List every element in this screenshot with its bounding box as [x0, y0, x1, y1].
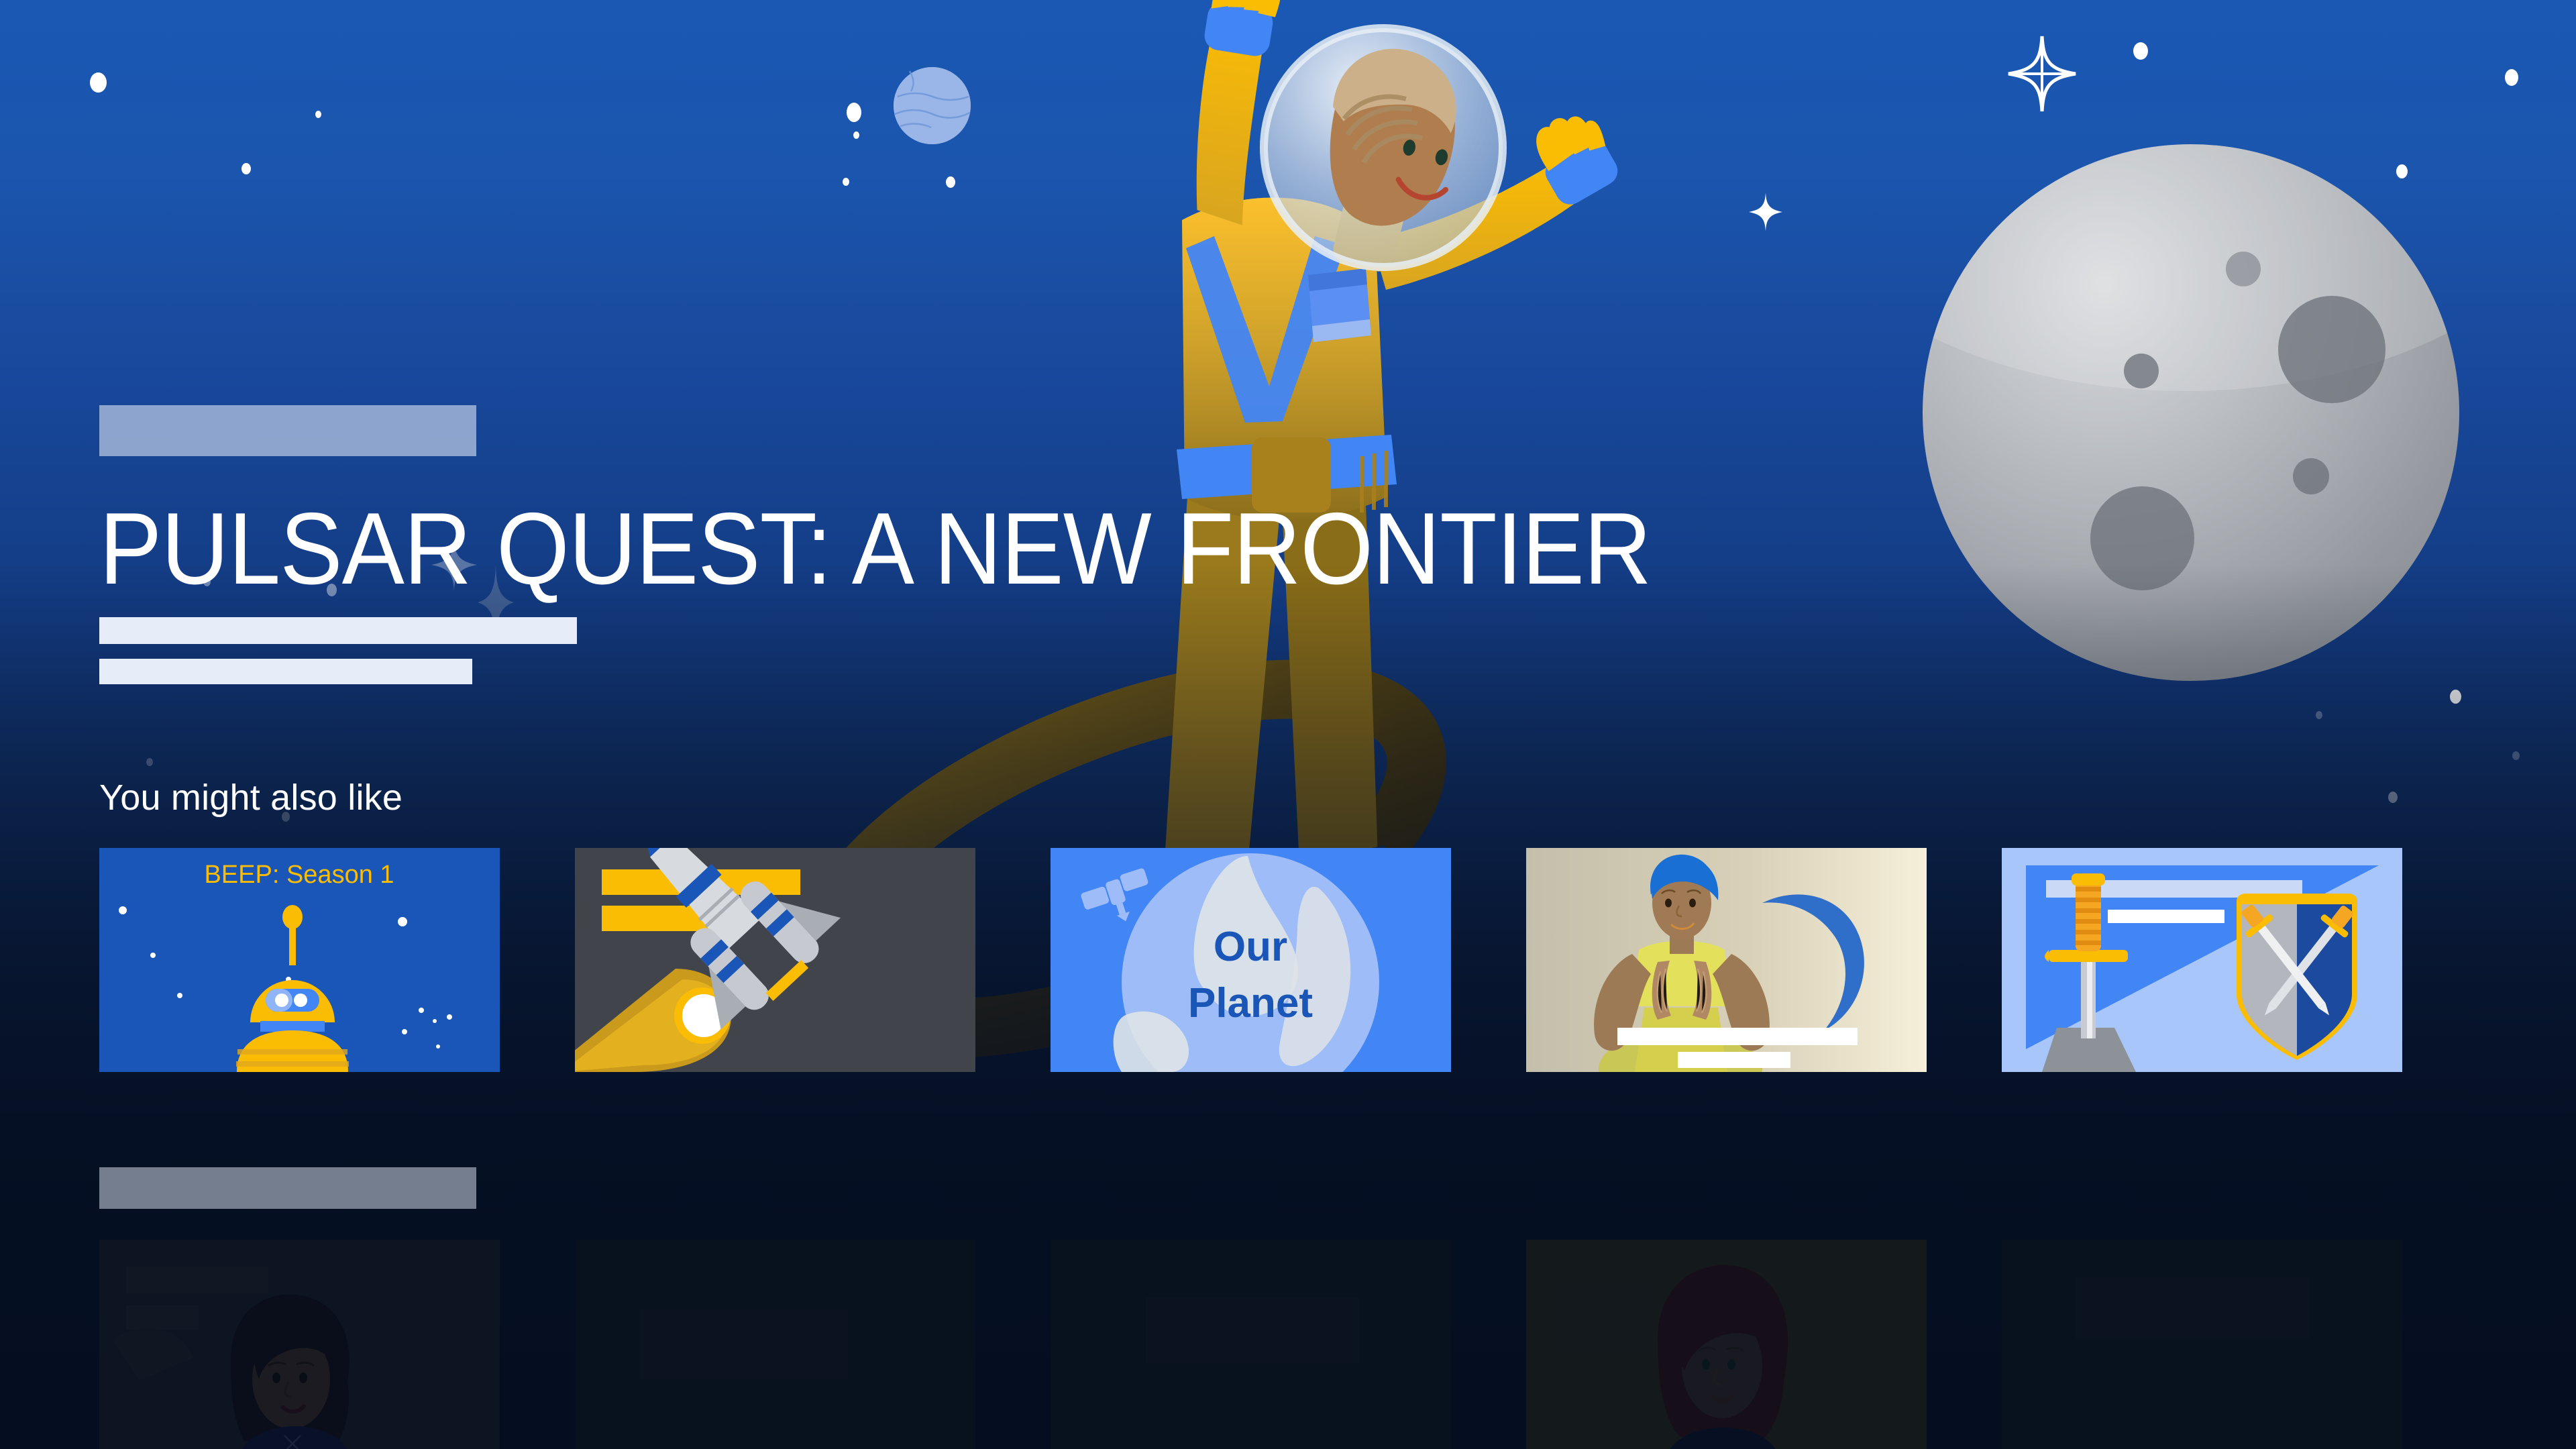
hero-meta-placeholder	[99, 405, 476, 456]
page-title: PULSAR QUEST: A NEW FRONTIER	[99, 498, 1889, 600]
second-row	[99, 1167, 2487, 1449]
card-portrait-woman-red-hair[interactable]	[1526, 1240, 1927, 1449]
card-placeholder-5[interactable]	[2002, 1240, 2402, 1449]
hero-text-block: PULSAR QUEST: A NEW FRONTIER	[99, 405, 2045, 684]
card-title-text: BEEP: Season 1	[204, 861, 394, 889]
sparkle-star-large	[2006, 34, 2078, 114]
card-our-planet[interactable]: Our Planet Our Planet	[1051, 848, 1451, 1072]
svg-text:Our: Our	[1214, 924, 1287, 970]
card-placeholder-2[interactable]	[575, 1240, 975, 1449]
card-sword-shield[interactable]	[2002, 848, 2402, 1072]
card-placeholder-3[interactable]	[1051, 1240, 1451, 1449]
svg-text:Planet: Planet	[1188, 980, 1313, 1026]
card-rocket-launch[interactable]	[575, 848, 975, 1072]
sparkle-star-small	[1748, 191, 1784, 233]
recommendations-row: You might also like	[99, 777, 2487, 1072]
card-beep-season-1[interactable]: BEEP: Season 1 BEEP: Season 1	[99, 848, 500, 1072]
hero-description-placeholder-line1	[99, 617, 577, 644]
card-list-secondary	[99, 1240, 2487, 1449]
hero-description-placeholder-line2	[99, 659, 472, 684]
card-list: BEEP: Season 1 BEEP: Season 1	[99, 848, 2487, 1072]
card-meditation[interactable]	[1526, 848, 1927, 1072]
row-title-placeholder	[99, 1167, 476, 1209]
row-title: You might also like	[99, 777, 2487, 818]
hero-banner-screen: PULSAR QUEST: A NEW FRONTIER You might a…	[0, 0, 2576, 1449]
card-portrait-woman-dark-hair[interactable]	[99, 1240, 500, 1449]
